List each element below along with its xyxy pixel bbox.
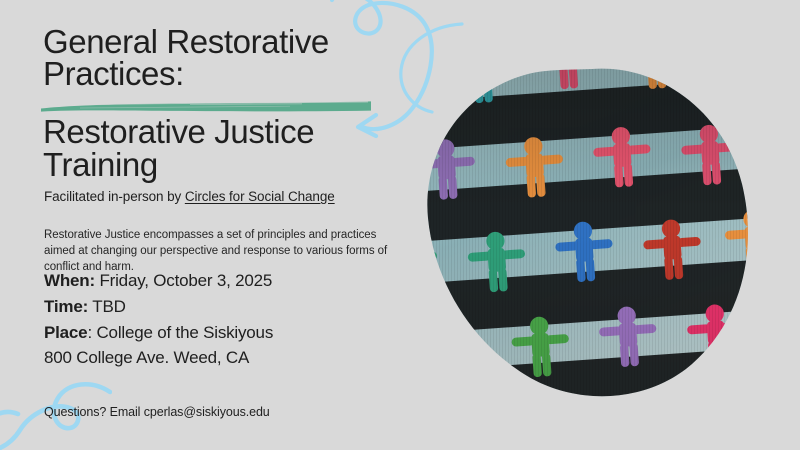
- contact-line[interactable]: Questions? Email cperlas@siskiyous.edu: [44, 405, 270, 419]
- detail-row-time: Time: TBD: [44, 294, 424, 320]
- detail-value-time: TBD: [88, 297, 126, 316]
- detail-label-place: Place: [44, 323, 87, 342]
- wooden-people-figures-photo: [424, 68, 750, 398]
- detail-label-time: Time:: [44, 297, 88, 316]
- event-details: When: Friday, October 3, 2025 Time: TBD …: [44, 268, 424, 371]
- detail-value-address: 800 College Ave. Weed, CA: [44, 348, 249, 367]
- facilitator-line: Facilitated in-person by Circles for Soc…: [44, 189, 335, 204]
- facilitator-organization-link[interactable]: Circles for Social Change: [185, 189, 335, 204]
- detail-row-place: Place: College of the Siskiyous: [44, 320, 424, 346]
- page-subtitle: Restorative Justice Training: [43, 115, 423, 181]
- detail-value-place: : College of the Siskiyous: [87, 323, 273, 342]
- detail-value-when: Friday, October 3, 2025: [95, 271, 272, 290]
- detail-row-address: 800 College Ave. Weed, CA: [44, 345, 424, 371]
- green-brush-stroke: [40, 99, 373, 113]
- headline-block: General Restorative Practices:: [43, 26, 418, 90]
- facilitator-prefix: Facilitated in-person by: [44, 189, 185, 204]
- page-title: General Restorative Practices:: [43, 26, 418, 90]
- detail-row-when: When: Friday, October 3, 2025: [44, 268, 424, 294]
- detail-label-when: When:: [44, 271, 95, 290]
- flyer-canvas: General Restorative Practices: Restorati…: [0, 0, 800, 450]
